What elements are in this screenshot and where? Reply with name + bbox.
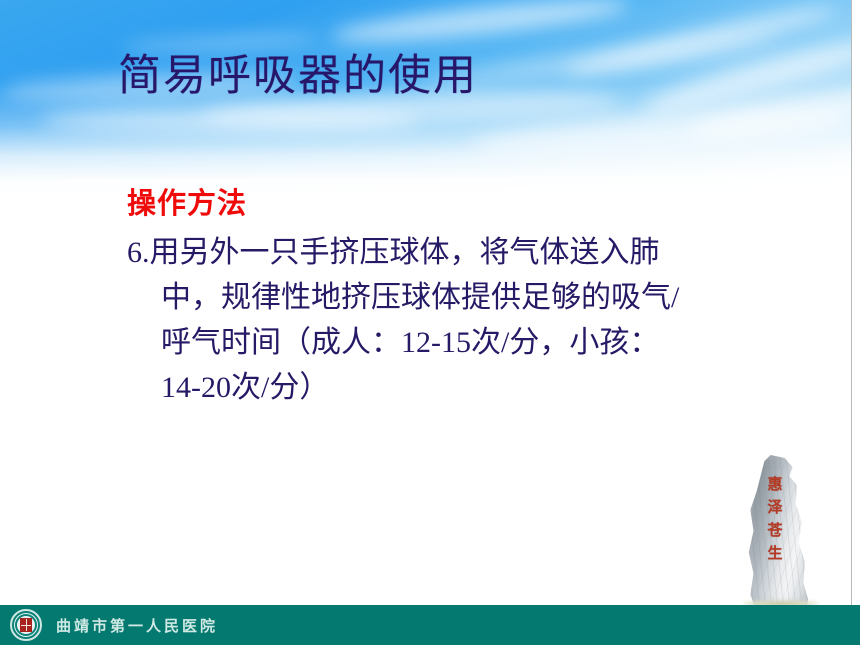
- inscription-char: 惠: [763, 473, 787, 496]
- slide-right-border: [851, 0, 852, 605]
- body-paragraph: 6.用另外一只手挤压球体，将气体送入肺 中，规律性地挤压球体提供足够的吸气/ 呼…: [127, 230, 839, 410]
- organization-name: 曲靖市第一人民医院: [56, 615, 218, 636]
- slide-canvas: 简易呼吸器的使用 操作方法 6.用另外一只手挤压球体，将气体送入肺 中，规律性地…: [0, 0, 860, 645]
- inscription-char: 苍: [763, 519, 787, 542]
- section-subheading: 操作方法: [127, 186, 839, 224]
- stone-monument-image: 惠 泽 苍 生: [735, 455, 831, 613]
- monument-inscription: 惠 泽 苍 生: [763, 473, 787, 565]
- hospital-emblem-icon: [10, 609, 42, 641]
- slide-right-margin: [852, 0, 860, 605]
- body-line: 呼气时间（成人：12-15次/分，小孩：: [127, 320, 839, 365]
- inscription-char: 泽: [763, 496, 787, 519]
- body-line: 6.用另外一只手挤压球体，将气体送入肺: [127, 230, 839, 275]
- footer-bar: 曲靖市第一人民医院: [0, 605, 860, 645]
- slide-body: 操作方法 6.用另外一只手挤压球体，将气体送入肺 中，规律性地挤压球体提供足够的…: [127, 186, 839, 410]
- inscription-char: 生: [763, 542, 787, 565]
- slide-title: 简易呼吸器的使用: [118, 52, 478, 103]
- emblem-center-mark: [20, 618, 32, 632]
- body-line: 中，规律性地挤压球体提供足够的吸气/: [127, 275, 839, 320]
- body-line: 14-20次/分）: [127, 365, 839, 410]
